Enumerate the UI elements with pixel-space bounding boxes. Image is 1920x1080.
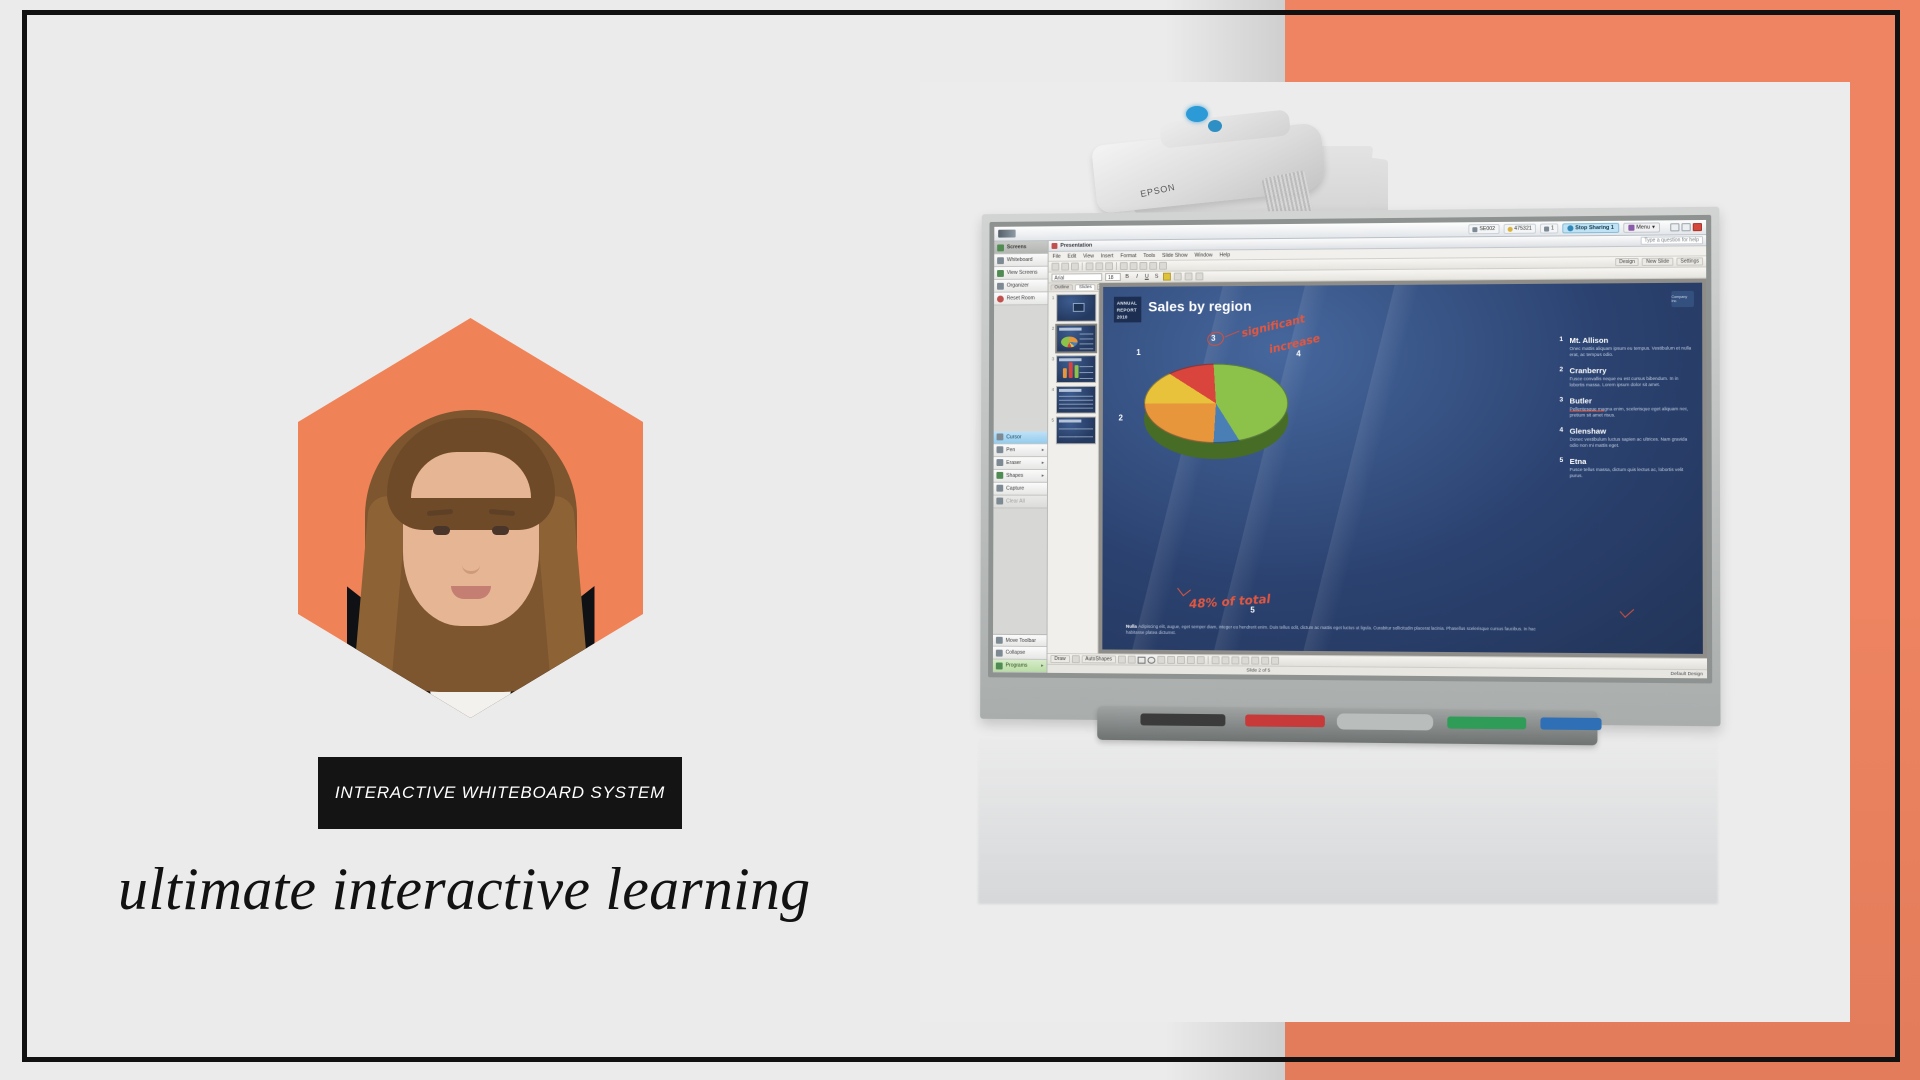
stop-sharing-button[interactable]: Stop Sharing 1 — [1562, 223, 1619, 234]
participants-chip: 1 — [1540, 223, 1558, 233]
marker-blue[interactable] — [1540, 717, 1601, 730]
participant-count: 1 — [1551, 225, 1554, 231]
new-slide-button[interactable]: New Slide — [1642, 258, 1673, 266]
design-template-name: Default Design — [1671, 671, 1703, 676]
share-icon — [1567, 225, 1573, 231]
passcode-value: 475321 — [1514, 226, 1532, 232]
portrait-photo — [298, 318, 643, 718]
settings-button[interactable]: Settings — [1676, 257, 1703, 265]
menu-label: Menu — [1636, 225, 1650, 231]
menu-icon — [1628, 225, 1634, 231]
toolbar-right-group: Design New Slide Settings — [1615, 257, 1703, 266]
minimize-button[interactable] — [1670, 223, 1679, 231]
stop-sharing-label: Stop Sharing 1 — [1575, 225, 1614, 231]
ink-check-annotation — [1620, 604, 1635, 618]
chevron-down-icon: ▾ — [1652, 224, 1655, 230]
legend-description: Donec vestibulum luctus sapien ac ultric… — [1570, 437, 1695, 449]
portrait-nose — [462, 554, 480, 574]
marker-green[interactable] — [1447, 716, 1526, 729]
avatar — [298, 318, 643, 718]
legend-name: Etna — [1570, 457, 1587, 466]
left-content-column: INTERACTIVE WHITEBOARD SYSTEM ultimate i… — [0, 0, 1285, 1080]
legend-name: Cranberry — [1570, 366, 1607, 375]
page-title: ultimate interactive learning — [118, 855, 1138, 924]
legend-description: Fusce convallis neque eu est cursus bibe… — [1570, 376, 1695, 389]
portrait-eye-left — [433, 526, 450, 535]
session-id-value: SE002 — [1479, 226, 1495, 232]
person-icon — [1544, 226, 1549, 231]
portrait-eye-right — [492, 526, 509, 535]
monitor-icon — [1472, 227, 1477, 232]
legend-number: 1 — [1559, 336, 1565, 358]
legend-number: 3 — [1559, 396, 1565, 418]
list-item: 1 Mt. Allison Onec mattis aliquam ipsum … — [1559, 335, 1694, 358]
legend-number: 5 — [1559, 457, 1565, 479]
list-item: 4 Glenshaw Donec vestibulum luctus sapie… — [1559, 426, 1694, 448]
help-search-box[interactable]: Type a question for help — [1640, 236, 1703, 245]
list-item: 5 Etna Fusce tellus massa, dictum quis l… — [1559, 457, 1694, 479]
legend-name: Glenshaw — [1570, 427, 1607, 436]
tray-eraser[interactable] — [1337, 713, 1433, 730]
caption-label: INTERACTIVE WHITEBOARD SYSTEM — [323, 781, 677, 806]
legend-description: Fusce tellus massa, dictum quis lectus a… — [1570, 467, 1695, 479]
legend-number: 4 — [1559, 427, 1565, 449]
chart-legend: 1 Mt. Allison Onec mattis aliquam ipsum … — [1559, 335, 1694, 487]
menu-button[interactable]: Menu ▾ — [1623, 222, 1660, 232]
design-button[interactable]: Design — [1615, 258, 1639, 266]
legend-name: Butler — [1570, 396, 1592, 405]
key-icon — [1507, 226, 1512, 231]
window-controls — [1670, 223, 1702, 231]
session-id-chip: SE002 — [1468, 224, 1499, 234]
legend-description: Pellentesque magna enim, scelerisque ege… — [1570, 406, 1695, 418]
caption-box: INTERACTIVE WHITEBOARD SYSTEM — [318, 757, 682, 829]
maximize-button[interactable] — [1681, 223, 1690, 231]
pie-label-4: 4 — [1296, 349, 1300, 358]
list-item: 2 Cranberry Fusce convallis neque eu est… — [1559, 366, 1694, 389]
close-button[interactable] — [1693, 223, 1702, 231]
legend-name: Mt. Allison — [1570, 336, 1609, 345]
list-item: 3 Butler Pellentesque magna enim, sceler… — [1559, 396, 1694, 419]
passcode-chip: 475321 — [1503, 224, 1536, 234]
company-logo: Company Inc. — [1671, 291, 1694, 307]
legend-description: Onec mattis aliquam ipsum eu tempus. Ves… — [1570, 345, 1695, 358]
legend-number: 2 — [1559, 366, 1565, 388]
marketing-slide: INTERACTIVE WHITEBOARD SYSTEM ultimate i… — [0, 0, 1920, 1080]
